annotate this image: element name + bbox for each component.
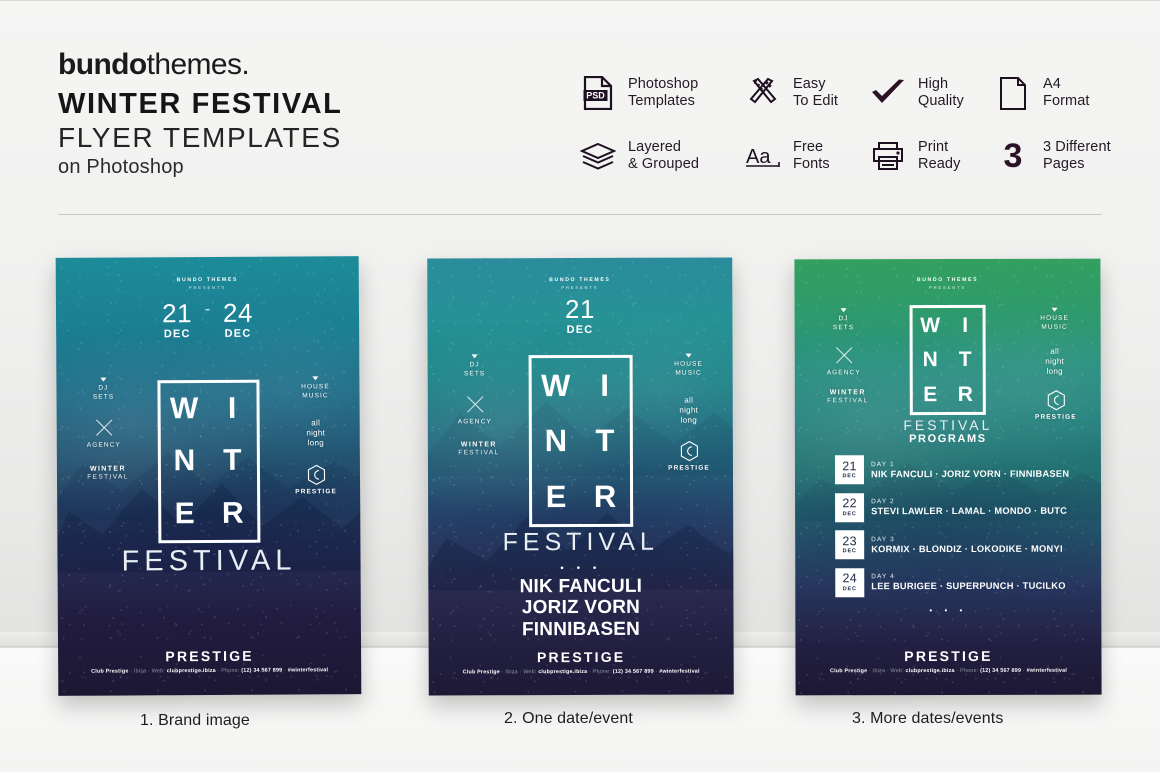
- feature-line-2: Pages: [1043, 156, 1111, 173]
- date-from-month: DEC: [162, 328, 192, 340]
- program-month: DEC: [843, 548, 857, 554]
- triangle-marker-icon: [841, 308, 847, 312]
- winter-line-2: FESTIVAL: [448, 450, 510, 459]
- feature-line-1: High: [918, 76, 964, 93]
- feature-line-1: Print: [918, 139, 960, 156]
- label-prestige-logo: PRESTIGE: [286, 464, 346, 497]
- program-row: 21 DEC DAY 1 NIK FANCULI · JORIZ VORN · …: [835, 455, 1083, 485]
- feature-line-1: 3 Different: [1043, 139, 1111, 156]
- program-day-number: 24: [842, 572, 857, 585]
- date-single: 21 DEC: [565, 297, 595, 336]
- feature-free-fonts: Aa Free Fonts: [743, 125, 868, 188]
- caption-poster-2: 2. One date/event: [504, 710, 633, 728]
- program-row: 22 DEC DAY 2 STEVI LAWLER · LAMAL · MOND…: [835, 492, 1083, 522]
- feature-label: A4 Format: [1043, 76, 1090, 110]
- date-day: 21: [565, 294, 595, 324]
- allnight-line-2: night: [679, 406, 698, 415]
- dj-sets-line-1: DJ: [838, 315, 848, 322]
- program-date-badge: 23 DEC: [835, 530, 864, 559]
- brand-logo: bundothemes.: [58, 48, 249, 82]
- programs-title: PROGRAMS: [795, 433, 1101, 446]
- winter-letters-box: W I N T E R: [528, 355, 633, 527]
- poster-footer-brand: PRESTIGE: [429, 648, 734, 665]
- winter-letter-e: E: [546, 481, 567, 512]
- program-day-label: DAY 4: [871, 573, 1065, 581]
- date-from: 21 DEC: [162, 301, 192, 340]
- winter-line-2: FESTIVAL: [817, 398, 879, 407]
- feature-label: 3 Different Pages: [1043, 139, 1111, 173]
- feature-line-2: Ready: [918, 156, 960, 173]
- winter-letter-r: R: [222, 499, 244, 529]
- poster-brand-presents: PRESENTS: [56, 284, 359, 291]
- agency-label: AGENCY: [827, 369, 861, 376]
- svg-text:PSD: PSD: [586, 91, 605, 101]
- label-prestige-logo: PRESTIGE: [659, 441, 719, 474]
- poster-brand-presents: PRESENTS: [794, 285, 1100, 291]
- footer-web-label: Web:: [152, 668, 165, 674]
- poster-1-date-range: 21 DEC - 24 DEC: [56, 300, 359, 341]
- svg-text:Aa: Aa: [746, 146, 771, 168]
- footer-hashtag: #winterfestival: [1027, 668, 1067, 674]
- prestige-hexagon-icon: [1046, 390, 1065, 411]
- footer-web: clubprestige.ibiza: [906, 668, 955, 674]
- program-day-number: 23: [842, 535, 857, 548]
- agency-label: AGENCY: [87, 442, 121, 449]
- allnight-line-3: long: [308, 438, 324, 447]
- program-artists: LEE BURIGEE · SUPERPUNCH · TUCILKO: [871, 581, 1065, 592]
- poster-footer-contact: Club Prestige · Ibiza · Web: clubprestig…: [796, 668, 1102, 675]
- feature-line-2: Templates: [628, 93, 698, 110]
- page-title: WINTER FESTIVAL: [58, 88, 342, 121]
- feature-line-1: A4: [1043, 76, 1090, 93]
- program-artists: KORMIX · BLONDIZ · LOKODIKE · MONYI: [871, 543, 1063, 554]
- x-mark-icon: [833, 344, 855, 366]
- winter-letter-grid: W I N T E R: [531, 358, 630, 524]
- feature-line-2: Fonts: [793, 156, 830, 173]
- layers-icon: [578, 136, 618, 176]
- winter-letter-e: E: [923, 384, 937, 405]
- label-all-night-long: all night long: [1027, 347, 1083, 377]
- program-day-label: DAY 3: [871, 535, 1063, 543]
- label-agency: AGENCY: [77, 416, 131, 450]
- artist-line-2: JORIZ VORN: [428, 597, 733, 619]
- footer-club: Club Prestige: [91, 668, 128, 674]
- footer-phone: (12) 34 567 899: [980, 668, 1021, 674]
- poster-2-artist-list: NIK FANCULI JORIZ VORN FINNIBASEN: [428, 575, 733, 640]
- checkmark-icon: [868, 73, 908, 113]
- triangle-marker-icon: [686, 354, 692, 358]
- winter-letter-t: T: [595, 425, 614, 456]
- decorative-dots: • • •: [795, 606, 1101, 616]
- house-line-2: MUSIC: [675, 369, 701, 376]
- label-winter-festival: WINTER FESTIVAL: [817, 388, 879, 406]
- footer-web-label: Web:: [891, 668, 904, 674]
- feature-easy-to-edit: Easy To Edit: [743, 62, 868, 125]
- pencil-ruler-icon: [743, 73, 783, 113]
- program-day-number: 22: [842, 497, 857, 510]
- winter-letter-t: T: [223, 446, 242, 476]
- winter-letter-i: I: [962, 315, 968, 336]
- caption-poster-3: 3. More dates/events: [852, 710, 1003, 728]
- footer-phone: (12) 34 567 899: [613, 669, 654, 675]
- poster-brand-name: BUNDO THEMES: [177, 277, 238, 283]
- winter-letter-n: N: [173, 447, 195, 477]
- feature-high-quality: High Quality: [868, 62, 993, 125]
- feature-line-2: Quality: [918, 93, 964, 110]
- triangle-marker-icon: [472, 354, 478, 358]
- house-line-1: HOUSE: [674, 361, 703, 368]
- allnight-line-1: all: [1050, 347, 1059, 356]
- page-subtitle: FLYER TEMPLATES: [58, 122, 342, 154]
- winter-letter-w: W: [541, 370, 570, 401]
- house-line-1: HOUSE: [301, 383, 330, 390]
- poster-footer-brand: PRESTIGE: [795, 648, 1101, 665]
- feature-print-ready: Print Ready: [868, 125, 993, 188]
- program-details: DAY 2 STEVI LAWLER · LAMAL · MONDO · BUT…: [871, 498, 1067, 517]
- footer-web: clubprestige.ibiza: [538, 669, 587, 675]
- feature-layered-grouped: Layered & Grouped: [578, 125, 743, 188]
- festival-wordmark: FESTIVAL: [795, 417, 1101, 434]
- program-artists: STEVI LAWLER · LAMAL · MONDO · BUTC: [871, 506, 1067, 517]
- dj-sets-line-2: SETS: [93, 393, 114, 400]
- winter-letter-i: I: [228, 394, 237, 424]
- label-agency: AGENCY: [817, 344, 871, 378]
- poster-footer-brand: PRESTIGE: [58, 647, 361, 665]
- dj-sets-line-2: SETS: [464, 370, 485, 377]
- program-day-label: DAY 2: [871, 498, 1067, 506]
- poster-3-more-dates-events[interactable]: BUNDO THEMES PRESENTS DJ SETS AGENCY WIN…: [794, 259, 1101, 696]
- dj-sets-line-2: SETS: [833, 324, 854, 331]
- winter-letter-grid: W I N T E R: [913, 308, 983, 412]
- poster-brand-header: BUNDO THEMES PRESENTS: [56, 276, 359, 291]
- header-divider: [58, 214, 1102, 215]
- label-house-music: HOUSE MUSIC: [1027, 308, 1083, 333]
- poster-brand-presents: PRESENTS: [427, 284, 732, 290]
- festival-wordmark: FESTIVAL: [57, 544, 360, 579]
- winter-letter-grid: W I N T E R: [160, 383, 257, 541]
- allnight-line-1: all: [684, 396, 693, 405]
- label-winter-festival: WINTER FESTIVAL: [448, 440, 510, 458]
- feature-three-pages: 3 3 Different Pages: [993, 125, 1108, 188]
- poster-1-brand-image[interactable]: BUNDO THEMES PRESENTS 21 DEC - 24 DEC DJ…: [56, 256, 362, 696]
- feature-line-1: Photoshop: [628, 76, 698, 93]
- winter-letter-t: T: [959, 349, 972, 370]
- poster-brand-header: BUNDO THEMES PRESENTS: [794, 277, 1100, 291]
- label-dj-sets: DJ SETS: [448, 354, 502, 379]
- program-artists: NIK FANCULI · JORIZ VORN · FINNIBASEN: [871, 468, 1069, 479]
- program-date-badge: 24 DEC: [835, 568, 864, 597]
- poster-2-one-date-event[interactable]: BUNDO THEMES PRESENTS 21 DEC DJ SETS AGE…: [427, 257, 734, 695]
- program-month: DEC: [843, 511, 857, 517]
- dj-sets-line-1: DJ: [98, 385, 108, 392]
- program-day-number: 21: [842, 460, 857, 473]
- prestige-label: PRESTIGE: [668, 465, 710, 472]
- winter-line-2: FESTIVAL: [77, 474, 139, 483]
- poster-footer-contact: Club Prestige · Ibiza · Web: clubprestig…: [58, 667, 361, 675]
- festival-wordmark: FESTIVAL: [428, 527, 733, 557]
- program-date-badge: 21 DEC: [835, 455, 864, 484]
- feature-label: High Quality: [918, 76, 964, 110]
- date-to: 24 DEC: [223, 301, 253, 340]
- prestige-hexagon-icon: [306, 464, 325, 485]
- program-details: DAY 3 KORMIX · BLONDIZ · LOKODIKE · MONY…: [871, 535, 1063, 554]
- label-house-music: HOUSE MUSIC: [661, 354, 717, 379]
- winter-letters-box: W I N T E R: [157, 380, 260, 544]
- artist-line-3: FINNIBASEN: [428, 618, 733, 640]
- number-three-glyph: 3: [1004, 139, 1023, 173]
- footer-hashtag: #winterfestival: [659, 669, 699, 675]
- brand-logo-light: themes.: [147, 48, 250, 81]
- program-details: DAY 1 NIK FANCULI · JORIZ VORN · FINNIBA…: [871, 460, 1069, 479]
- program-row: 24 DEC DAY 4 LEE BURIGEE · SUPERPUNCH · …: [835, 567, 1083, 597]
- program-day-label: DAY 1: [871, 460, 1069, 468]
- winter-letter-r: R: [958, 384, 973, 405]
- label-all-night-long: all night long: [288, 418, 344, 448]
- feature-label: Photoshop Templates: [628, 76, 698, 110]
- feature-line-2: Format: [1043, 93, 1090, 110]
- label-dj-sets: DJ SETS: [817, 308, 871, 333]
- date-to-month: DEC: [223, 328, 253, 340]
- feature-label: Free Fonts: [793, 139, 830, 173]
- label-dj-sets: DJ SETS: [76, 377, 130, 402]
- dj-sets-line-1: DJ: [470, 361, 480, 368]
- agency-label: AGENCY: [458, 418, 492, 425]
- program-month: DEC: [843, 586, 857, 592]
- footer-club: Club Prestige: [830, 668, 867, 674]
- footer-phone-label: Phone:: [960, 668, 978, 674]
- footer-hashtag: #winterfestival: [288, 667, 328, 673]
- winter-letter-n: N: [545, 426, 567, 457]
- winter-letter-r: R: [594, 481, 616, 512]
- triangle-marker-icon: [1052, 308, 1058, 312]
- footer-web-label: Web:: [523, 669, 536, 675]
- prestige-label: PRESTIGE: [295, 488, 337, 495]
- footer-phone: (12) 34 567 899: [241, 668, 282, 674]
- feature-line-2: & Grouped: [628, 156, 699, 173]
- artist-line-1: NIK FANCULI: [428, 575, 733, 597]
- label-agency: AGENCY: [448, 393, 502, 427]
- header: bundothemes. WINTER FESTIVAL FLYER TEMPL…: [0, 0, 1160, 216]
- poster-2-date: 21 DEC: [427, 296, 732, 336]
- date-from-day: 21: [162, 298, 192, 328]
- feature-line-2: To Edit: [793, 93, 838, 110]
- house-line-2: MUSIC: [1041, 323, 1067, 330]
- footer-web: clubprestige.ibiza: [167, 668, 216, 674]
- winter-letter-i: I: [600, 370, 609, 401]
- feature-list: PSD Photoshop Templates Easy To Edit Hig…: [578, 62, 1108, 187]
- aa-font-icon: Aa: [743, 136, 783, 176]
- feature-line-1: Easy: [793, 76, 838, 93]
- caption-poster-1: 1. Brand image: [140, 712, 250, 730]
- feature-a4-format: A4 Format: [993, 62, 1108, 125]
- page-subtitle-2: on Photoshop: [58, 156, 184, 179]
- triangle-marker-icon: [100, 378, 106, 382]
- footer-phone-label: Phone:: [221, 668, 239, 674]
- allnight-line-3: long: [681, 416, 697, 425]
- allnight-line-3: long: [1047, 367, 1063, 376]
- program-month: DEC: [842, 473, 856, 479]
- poster-3-canvas: BUNDO THEMES PRESENTS DJ SETS AGENCY WIN…: [794, 259, 1101, 696]
- label-all-night-long: all night long: [661, 396, 717, 426]
- x-mark-icon: [464, 393, 486, 415]
- allnight-line-1: all: [311, 418, 320, 427]
- program-details: DAY 4 LEE BURIGEE · SUPERPUNCH · TUCILKO: [871, 573, 1065, 592]
- poster-2-canvas: BUNDO THEMES PRESENTS 21 DEC DJ SETS AGE…: [427, 257, 734, 695]
- winter-letters-box: W I N T E R: [910, 305, 986, 415]
- feature-photoshop-templates: PSD Photoshop Templates: [578, 62, 743, 125]
- poster-brand-name: BUNDO THEMES: [549, 277, 610, 283]
- footer-phone-label: Phone:: [593, 669, 611, 675]
- date-month: DEC: [565, 324, 595, 336]
- house-line-2: MUSIC: [302, 392, 328, 399]
- feature-label: Easy To Edit: [793, 76, 838, 110]
- footer-city: Ibiza: [505, 669, 517, 675]
- brand-logo-bold: bundo: [58, 48, 147, 81]
- triangle-marker-icon: [312, 376, 318, 380]
- winter-letter-w: W: [920, 315, 940, 336]
- feature-line-1: Free: [793, 139, 830, 156]
- label-house-music: HOUSE MUSIC: [287, 376, 343, 401]
- feature-line-1: Layered: [628, 139, 699, 156]
- footer-city: Ibiza: [134, 668, 146, 674]
- poster-footer-contact: Club Prestige · Ibiza · Web: clubprestig…: [429, 668, 734, 675]
- program-date-badge: 22 DEC: [835, 493, 864, 522]
- label-winter-festival: WINTER FESTIVAL: [77, 464, 139, 483]
- poster-brand-name: BUNDO THEMES: [917, 277, 978, 283]
- prestige-hexagon-icon: [679, 441, 698, 462]
- page-icon: [993, 73, 1033, 113]
- allnight-line-2: night: [306, 428, 325, 437]
- house-line-1: HOUSE: [1040, 315, 1069, 322]
- winter-letter-n: N: [923, 350, 938, 371]
- printer-icon: [868, 136, 908, 176]
- poster-1-canvas: BUNDO THEMES PRESENTS 21 DEC - 24 DEC DJ…: [56, 256, 362, 696]
- footer-city: Ibiza: [873, 668, 885, 674]
- decorative-dots: • • •: [428, 562, 733, 574]
- date-separator: -: [196, 301, 218, 319]
- winter-letter-w: W: [170, 394, 199, 424]
- footer-club: Club Prestige: [463, 669, 500, 675]
- winter-letter-e: E: [175, 499, 195, 529]
- programs-list: 21 DEC DAY 1 NIK FANCULI · JORIZ VORN · …: [835, 455, 1083, 606]
- number-three-icon: 3: [993, 136, 1033, 176]
- feature-label: Print Ready: [918, 139, 960, 173]
- program-row: 23 DEC DAY 3 KORMIX · BLONDIZ · LOKODIKE…: [835, 530, 1083, 560]
- date-to-day: 24: [223, 298, 253, 328]
- x-mark-icon: [93, 417, 115, 439]
- allnight-line-2: night: [1045, 357, 1064, 366]
- psd-file-icon: PSD: [578, 73, 618, 113]
- poster-brand-header: BUNDO THEMES PRESENTS: [427, 276, 732, 290]
- feature-label: Layered & Grouped: [628, 139, 699, 173]
